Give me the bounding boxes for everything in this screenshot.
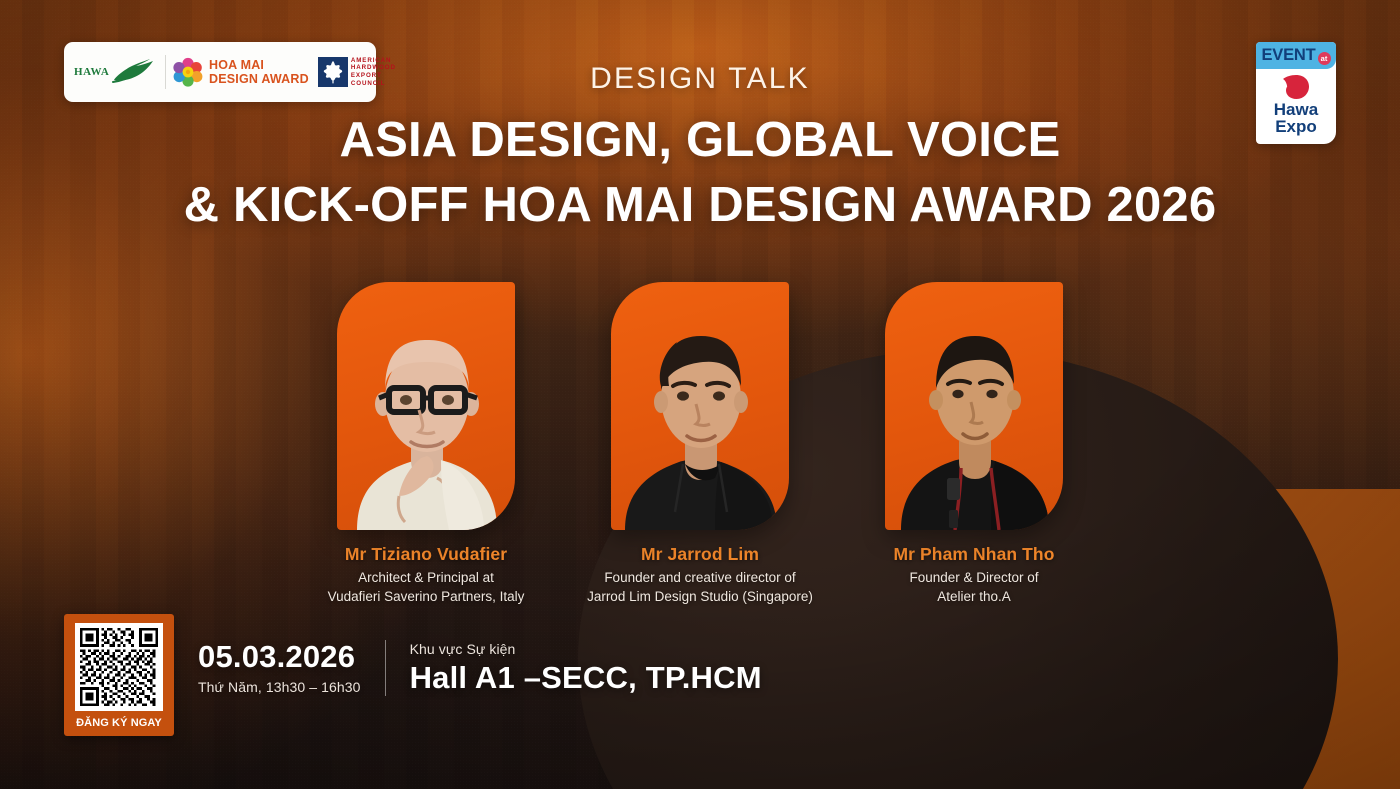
speaker-role-line2: Vudafieri Saverino Partners, Italy <box>328 588 525 607</box>
speaker-card: Mr Tiziano Vudafier Architect & Principa… <box>295 282 557 606</box>
venue-label: Khu vực Sự kiện <box>410 641 516 657</box>
portrait-tiziano-vudafier <box>337 282 515 530</box>
portrait-jarrod-lim <box>611 282 789 530</box>
speaker-name: Mr Tiziano Vudafier <box>345 544 507 565</box>
speaker-name: Mr Pham Nhan Tho <box>893 544 1054 565</box>
speaker-role-line1: Founder & Director of <box>909 569 1038 588</box>
speaker-role: Founder and creative director of Jarrod … <box>587 569 813 606</box>
speaker-role: Founder & Director of Atelier tho.A <box>909 569 1038 606</box>
headline-line-1: ASIA DESIGN, GLOBAL VOICE <box>0 108 1400 173</box>
speaker-role: Architect & Principal at Vudafieri Saver… <box>328 569 525 606</box>
speaker-role-line2: Atelier tho.A <box>909 588 1038 607</box>
speaker-role-line2: Jarrod Lim Design Studio (Singapore) <box>587 588 813 607</box>
register-now-label[interactable]: ĐĂNG KÝ NGAY <box>76 717 162 729</box>
page-title: ASIA DESIGN, GLOBAL VOICE & KICK-OFF HOA… <box>0 108 1400 237</box>
speaker-card: Mr Pham Nhan Tho Founder & Director of A… <box>843 282 1105 606</box>
event-day-time: Thứ Năm, 13h30 – 16h30 <box>198 679 361 695</box>
registration-qr-block[interactable]: ĐĂNG KÝ NGAY <box>64 614 174 736</box>
speaker-role-line1: Architect & Principal at <box>328 569 525 588</box>
speaker-role-line1: Founder and creative director of <box>587 569 813 588</box>
event-venue-block: Khu vực Sự kiện Hall A1 –SECC, TP.HCM <box>386 641 762 696</box>
speaker-photo <box>885 282 1063 530</box>
headline-line-2: & KICK-OFF HOA MAI DESIGN AWARD 2026 <box>0 173 1400 238</box>
kicker-label: DESIGN TALK <box>0 62 1400 96</box>
event-info-bar: 05.03.2026 Thứ Năm, 13h30 – 16h30 Khu vự… <box>198 640 762 696</box>
speaker-photo <box>337 282 515 530</box>
portrait-pham-nhan-tho <box>885 282 1063 530</box>
venue-name: Hall A1 –SECC, TP.HCM <box>410 660 762 696</box>
qr-code-icon[interactable] <box>75 623 163 711</box>
event-poster: HAWA <box>0 0 1400 789</box>
event-date: 05.03.2026 <box>198 641 355 673</box>
event-date-block: 05.03.2026 Thứ Năm, 13h30 – 16h30 <box>198 641 385 694</box>
speaker-name: Mr Jarrod Lim <box>641 544 759 565</box>
speaker-photo <box>611 282 789 530</box>
speaker-card: Mr Jarrod Lim Founder and creative direc… <box>569 282 831 606</box>
speaker-list: Mr Tiziano Vudafier Architect & Principa… <box>0 282 1400 606</box>
